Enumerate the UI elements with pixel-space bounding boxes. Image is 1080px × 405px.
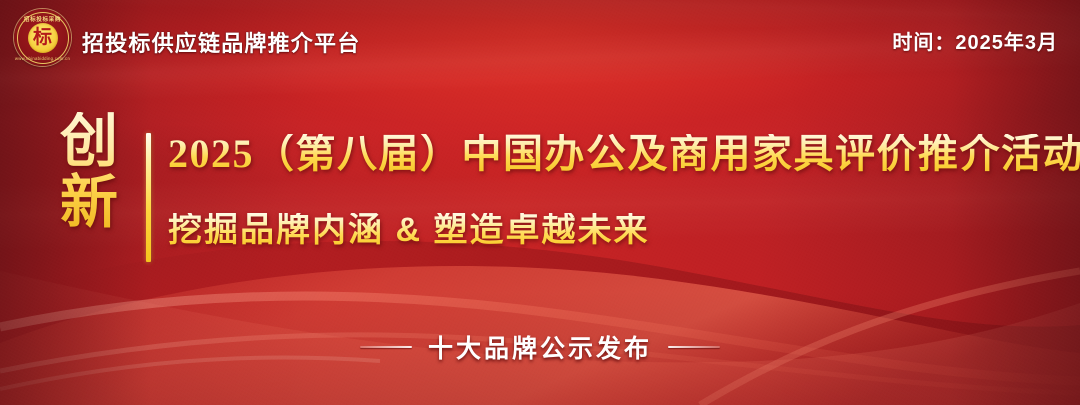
headline-title: 2025（第八届）中国办公及商用家具评价推介活动 [168, 134, 1080, 174]
kicker-text: 创 新 [50, 112, 130, 234]
site-title: 招投标供应链品牌推介平台 [82, 26, 360, 58]
left-dash-icon [360, 346, 412, 348]
banner-main: 创 新 2025（第八届）中国办公及商用家具评价推介活动 挖掘品牌内涵 & 塑造… [0, 108, 1080, 278]
kicker-char-2: 新 [50, 173, 130, 234]
date-label: 时间：2025年3月 [892, 26, 1058, 55]
platform-logo-icon[interactable]: 招标投标采购 标 www.chinabidding.com.cn [14, 9, 71, 66]
logo-center-glyph: 标 [33, 28, 52, 47]
kicker-char-1: 创 [50, 112, 130, 173]
banner-footer: 十大品牌公示发布 [0, 326, 1080, 368]
logo-arc-bottom-text: www.chinabidding.com.cn [14, 56, 71, 61]
banner-header: 招标投标采购 标 www.chinabidding.com.cn 招投标供应链品… [0, 0, 1080, 68]
promo-banner: 招标投标采购 标 www.chinabidding.com.cn 招投标供应链品… [0, 0, 1080, 405]
right-dash-icon [668, 346, 720, 348]
logo-arc-top-text: 招标投标采购 [14, 15, 71, 23]
gold-vertical-divider [146, 133, 151, 262]
subheadline-slogan: 挖掘品牌内涵 & 塑造卓越未来 [168, 213, 649, 247]
footer-announcement: 十大品牌公示发布 [428, 329, 652, 365]
